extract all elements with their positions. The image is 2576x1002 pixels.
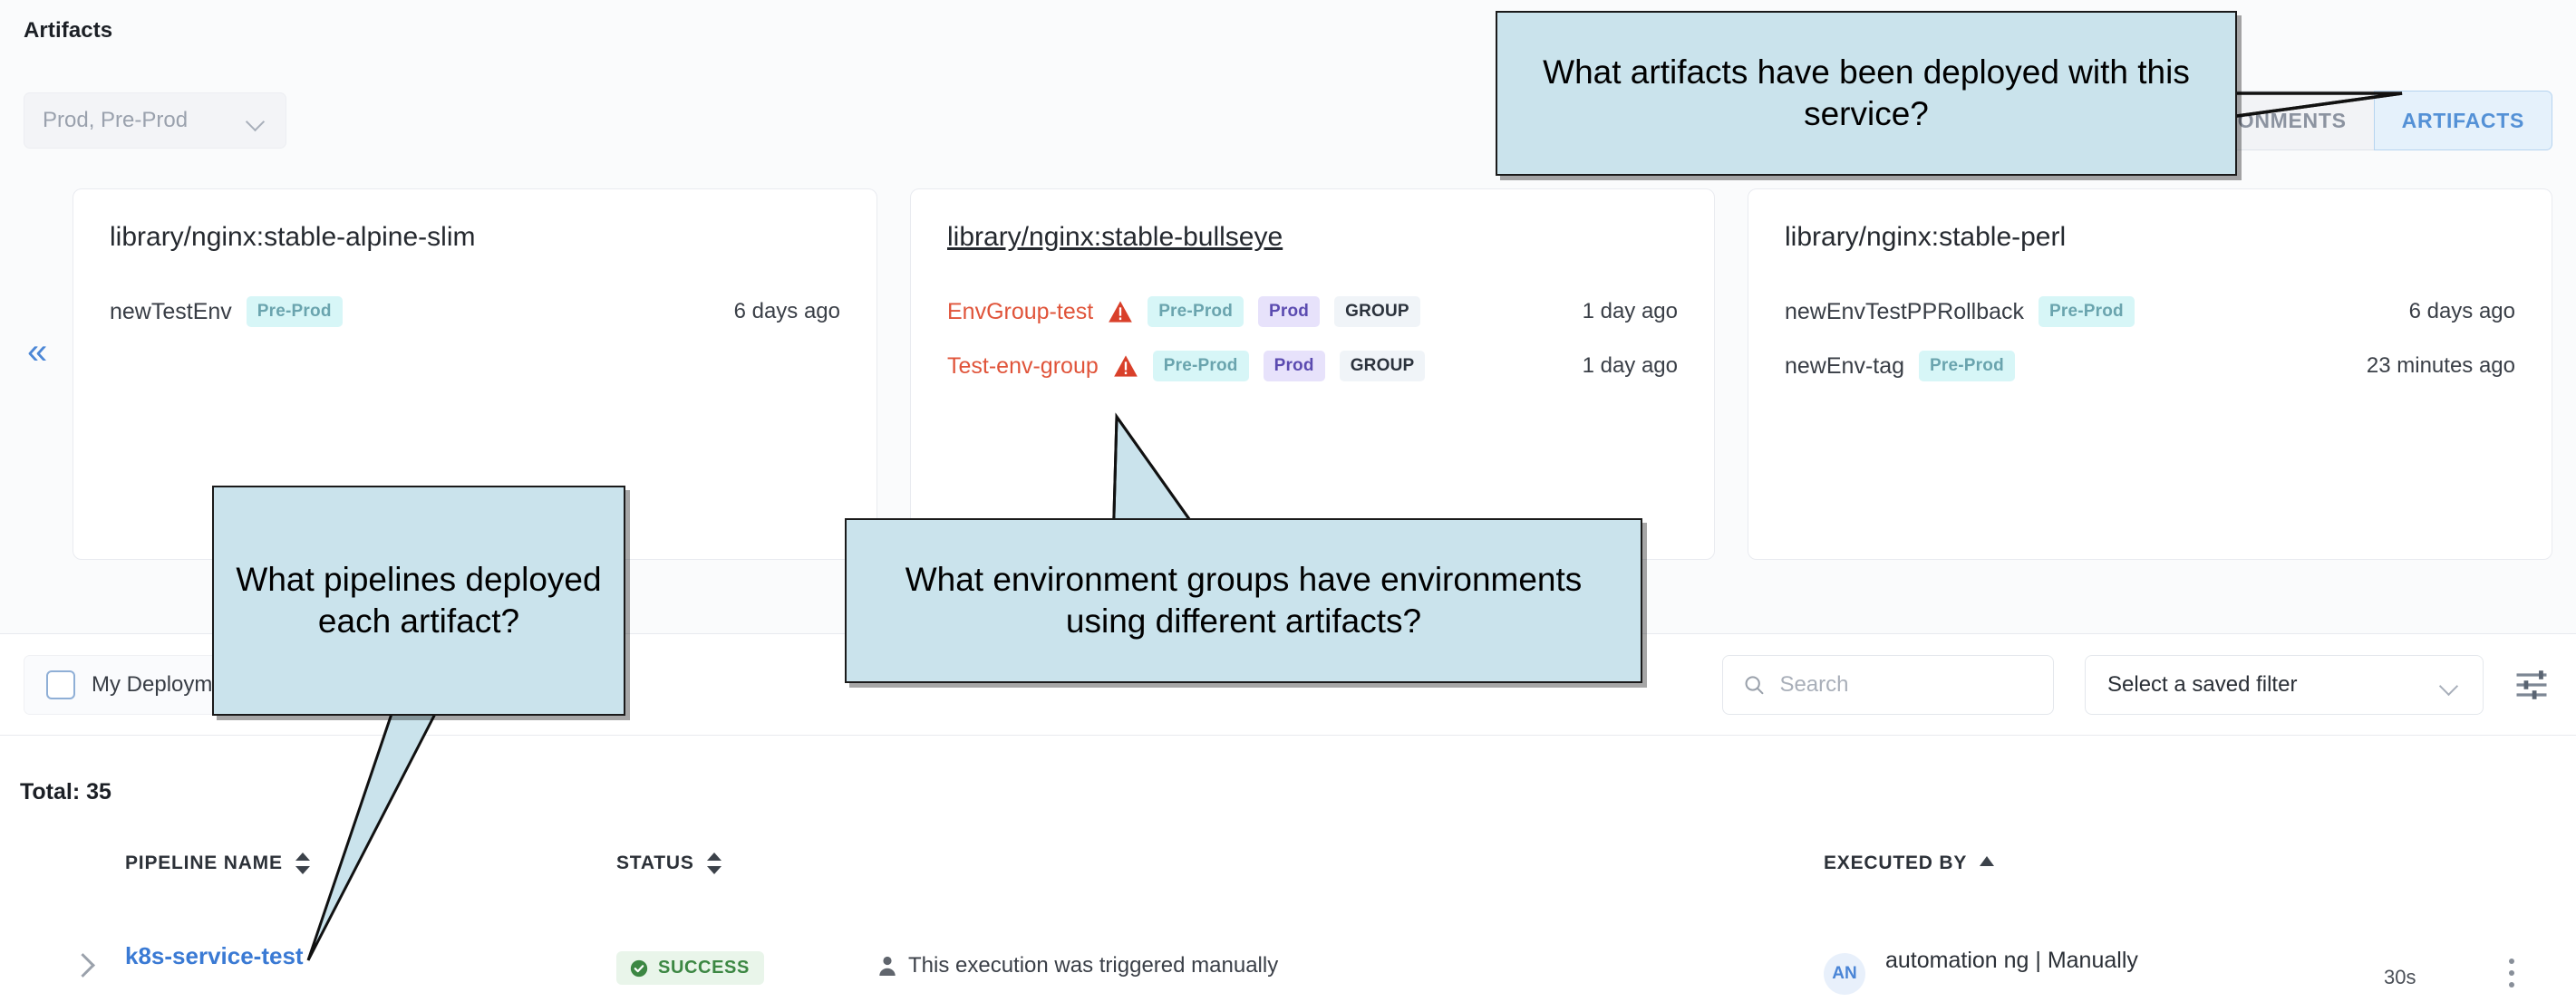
annotation-callout-artifacts: What artifacts have been deployed with t… bbox=[1496, 11, 2237, 176]
executions-table: Total: 35 PIPELINE NAME STATUS EXECUTED … bbox=[0, 736, 2576, 1002]
column-header-label: PIPELINE NAME bbox=[125, 853, 283, 874]
badge-pre-prod: Pre-Prod bbox=[1153, 351, 1249, 381]
search-input[interactable] bbox=[1779, 672, 2033, 698]
deployment-time: 23 minutes ago bbox=[2367, 353, 2515, 379]
environment-name: newEnv-tag bbox=[1785, 353, 1904, 380]
my-deployments-checkbox[interactable] bbox=[46, 670, 75, 699]
sort-icon[interactable] bbox=[295, 852, 310, 875]
chevron-down-icon bbox=[244, 109, 267, 132]
environment-filter-value: Prod, Pre-Prod bbox=[43, 108, 244, 133]
artifact-card-title: library/nginx:stable-alpine-slim bbox=[110, 222, 840, 253]
artifact-env-row[interactable]: newEnv-tag Pre-Prod 23 minutes ago bbox=[1785, 351, 2515, 381]
environment-filter-dropdown[interactable]: Prod, Pre-Prod bbox=[24, 92, 286, 149]
sliders-icon[interactable] bbox=[2511, 665, 2552, 705]
column-header-label: STATUS bbox=[616, 853, 694, 874]
row-options-kebab-icon[interactable] bbox=[2509, 959, 2518, 994]
sort-icon[interactable] bbox=[707, 852, 721, 875]
page-title: Artifacts bbox=[24, 18, 112, 43]
badge-pre-prod: Pre-Prod bbox=[2039, 296, 2135, 327]
badge-pre-prod: Pre-Prod bbox=[247, 296, 343, 327]
search-icon bbox=[1743, 672, 1765, 698]
column-header-executed-by[interactable]: EXECUTED BY bbox=[1824, 852, 1994, 875]
deployment-time: 6 days ago bbox=[734, 299, 840, 324]
column-header-status[interactable]: STATUS bbox=[616, 852, 721, 875]
artifact-card[interactable]: library/nginx:stable-perl newEnvTestPPRo… bbox=[1748, 188, 2552, 560]
page-root: Artifacts Prod, Pre-Prod ENVIRONMENTS AR… bbox=[0, 0, 2576, 1002]
badge-prod: Prod bbox=[1258, 296, 1320, 327]
avatar: AN bbox=[1824, 953, 1865, 995]
environment-name: newTestEnv bbox=[110, 299, 232, 325]
expand-row-chevron-icon[interactable] bbox=[74, 957, 94, 977]
duration-text: 30s bbox=[2384, 966, 2416, 989]
artifact-card-title-text: library/nginx:stable-bullseye bbox=[947, 222, 1283, 252]
saved-filter-dropdown[interactable]: Select a saved filter bbox=[2085, 655, 2484, 715]
column-header-pipeline-name[interactable]: PIPELINE NAME bbox=[125, 852, 310, 875]
kebab-dot bbox=[2509, 970, 2514, 976]
chevron-double-left-icon[interactable]: « bbox=[27, 333, 47, 370]
artifact-env-row[interactable]: newTestEnv Pre-Prod 6 days ago bbox=[110, 296, 840, 327]
table-header-row: PIPELINE NAME STATUS EXECUTED BY bbox=[0, 852, 2576, 906]
environment-name: EnvGroup-test bbox=[947, 299, 1093, 325]
environment-name: newEnvTestPPRollback bbox=[1785, 299, 2024, 325]
pipeline-name-link[interactable]: k8s-service-test bbox=[125, 942, 304, 970]
trigger-info: This execution was triggered manually bbox=[877, 953, 1278, 978]
status-badge: SUCCESS bbox=[616, 951, 764, 985]
kebab-dot bbox=[2509, 959, 2514, 964]
executed-by-text: automation ng | Manually bbox=[1885, 948, 2138, 974]
artifact-env-row[interactable]: newEnvTestPPRollback Pre-Prod 6 days ago bbox=[1785, 296, 2515, 327]
badge-pre-prod: Pre-Prod bbox=[1148, 296, 1244, 327]
deployment-time: 6 days ago bbox=[2409, 299, 2515, 324]
status-badge-label: SUCCESS bbox=[658, 958, 750, 978]
saved-filter-value: Select a saved filter bbox=[2107, 672, 2437, 698]
table-row[interactable]: k8s-service-test SUCCESS This execution … bbox=[0, 933, 2576, 1002]
artifact-card[interactable]: library/nginx:stable-bullseye EnvGroup-t… bbox=[910, 188, 1715, 560]
column-header-label: EXECUTED BY bbox=[1824, 853, 1967, 874]
executed-by-cell: AN automation ng | Manually bbox=[1824, 940, 2138, 995]
user-icon bbox=[877, 954, 897, 978]
search-box[interactable] bbox=[1722, 655, 2054, 715]
warning-triangle-icon bbox=[1113, 354, 1138, 378]
chevron-down-icon bbox=[2437, 673, 2461, 697]
artifact-card-title-link[interactable]: library/nginx:stable-bullseye bbox=[947, 222, 1678, 253]
badge-group: GROUP bbox=[1334, 296, 1420, 327]
environment-name: Test-env-group bbox=[947, 353, 1099, 380]
kebab-dot bbox=[2509, 982, 2514, 988]
badge-pre-prod: Pre-Prod bbox=[1919, 351, 2015, 381]
warning-triangle-icon bbox=[1108, 300, 1133, 323]
artifact-card-title: library/nginx:stable-perl bbox=[1785, 222, 2515, 253]
deployment-time: 1 day ago bbox=[1583, 299, 1678, 324]
badge-prod: Prod bbox=[1264, 351, 1325, 381]
artifact-env-row[interactable]: EnvGroup-test Pre-Prod Prod GROUP 1 day … bbox=[947, 296, 1678, 327]
check-circle-icon bbox=[629, 959, 649, 978]
annotation-callout-pipelines: What pipelines deployed each artifact? bbox=[212, 486, 625, 716]
deployment-time: 1 day ago bbox=[1583, 353, 1678, 379]
annotation-callout-environment-groups: What environment groups have environment… bbox=[845, 518, 1642, 683]
sort-ascending-icon[interactable] bbox=[1980, 852, 1994, 875]
badge-group: GROUP bbox=[1340, 351, 1426, 381]
artifact-env-row[interactable]: Test-env-group Pre-Prod Prod GROUP 1 day… bbox=[947, 351, 1678, 381]
total-count-label: Total: 35 bbox=[20, 779, 111, 805]
trigger-text: This execution was triggered manually bbox=[908, 953, 1278, 978]
tab-artifacts[interactable]: ARTIFACTS bbox=[2374, 91, 2552, 150]
